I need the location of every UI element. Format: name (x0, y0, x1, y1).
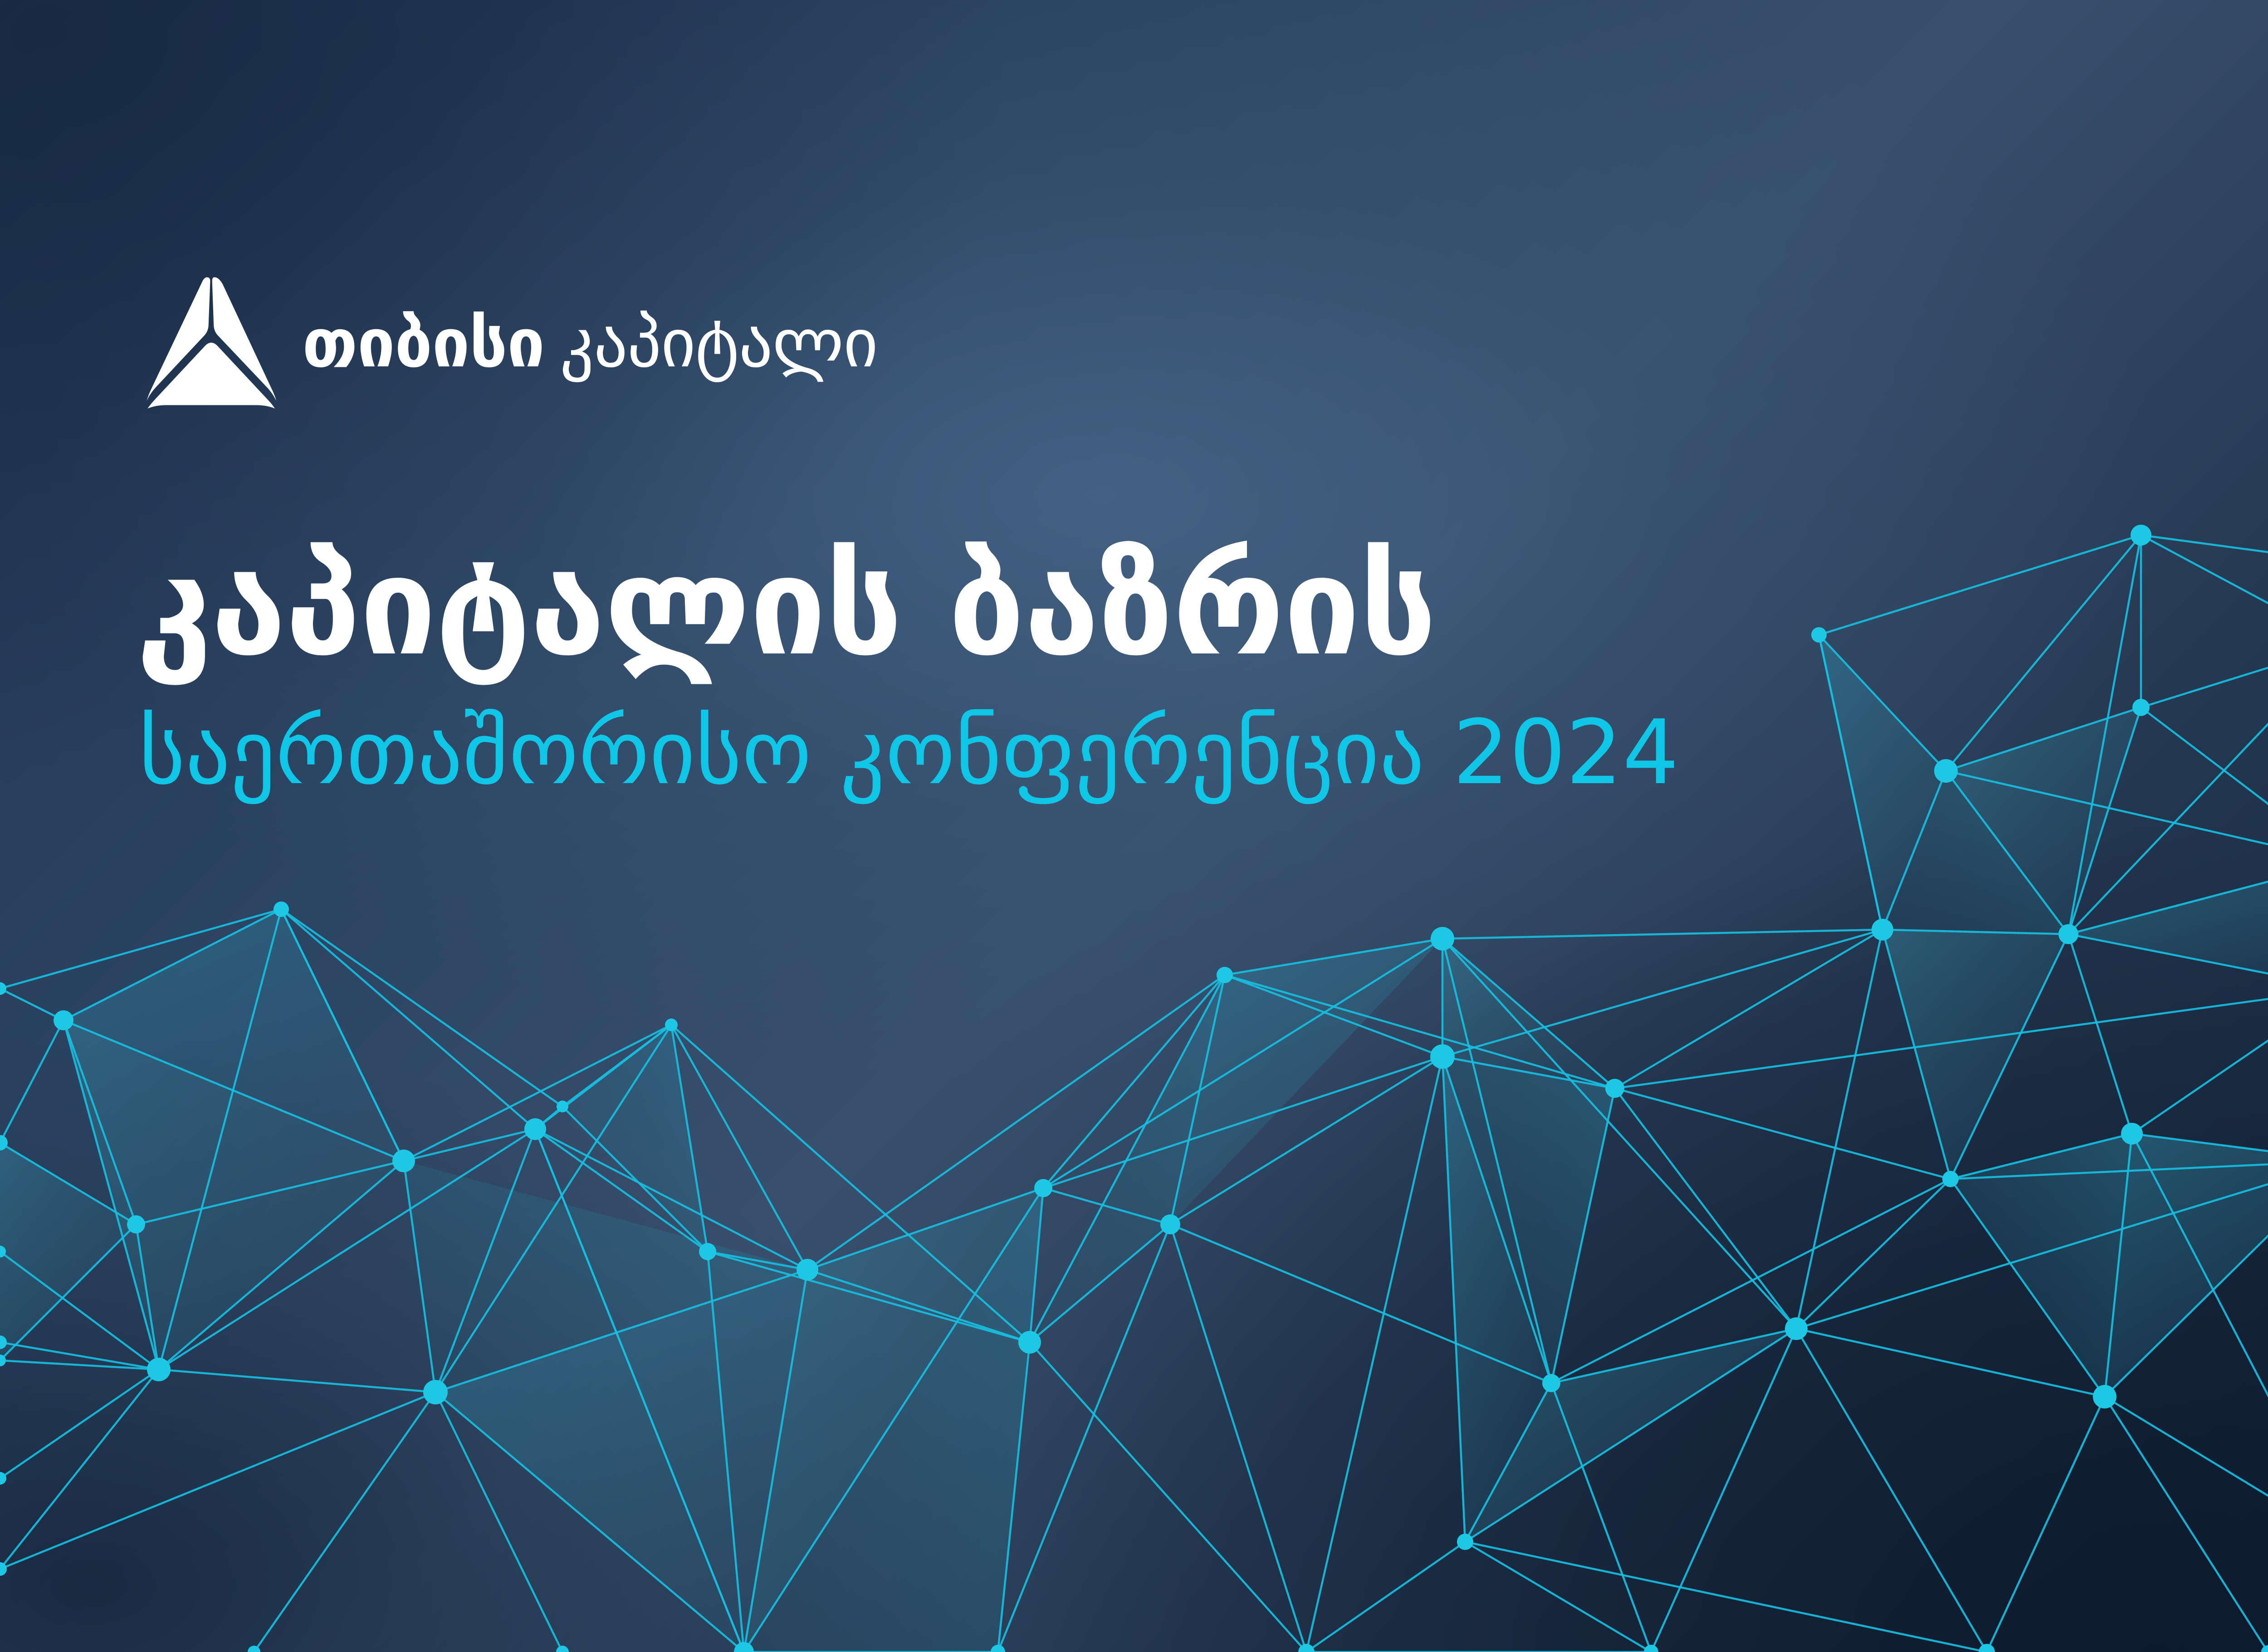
conference-poster: თიბისი კაპიტალი კაპიტალის ბაზრის საერთაშ… (0, 0, 2268, 1652)
brand-lockup: თიბისი კაპიტალი (146, 274, 878, 415)
tbc-triangle-logo-icon (146, 274, 277, 415)
brand-wordmark: თიბისი კაპიტალი (302, 310, 878, 380)
page-title: კაპიტალის ბაზრის (136, 537, 2041, 676)
poster-content: თიბისი კაპიტალი კაპიტალის ბაზრის საერთაშ… (0, 0, 2268, 1652)
brand-name-bold: თიბისი (302, 310, 544, 377)
brand-name-light: კაპიტალი (560, 310, 878, 377)
page-subtitle: საერთაშორისო კონფერენცია 2024 (139, 707, 2044, 800)
